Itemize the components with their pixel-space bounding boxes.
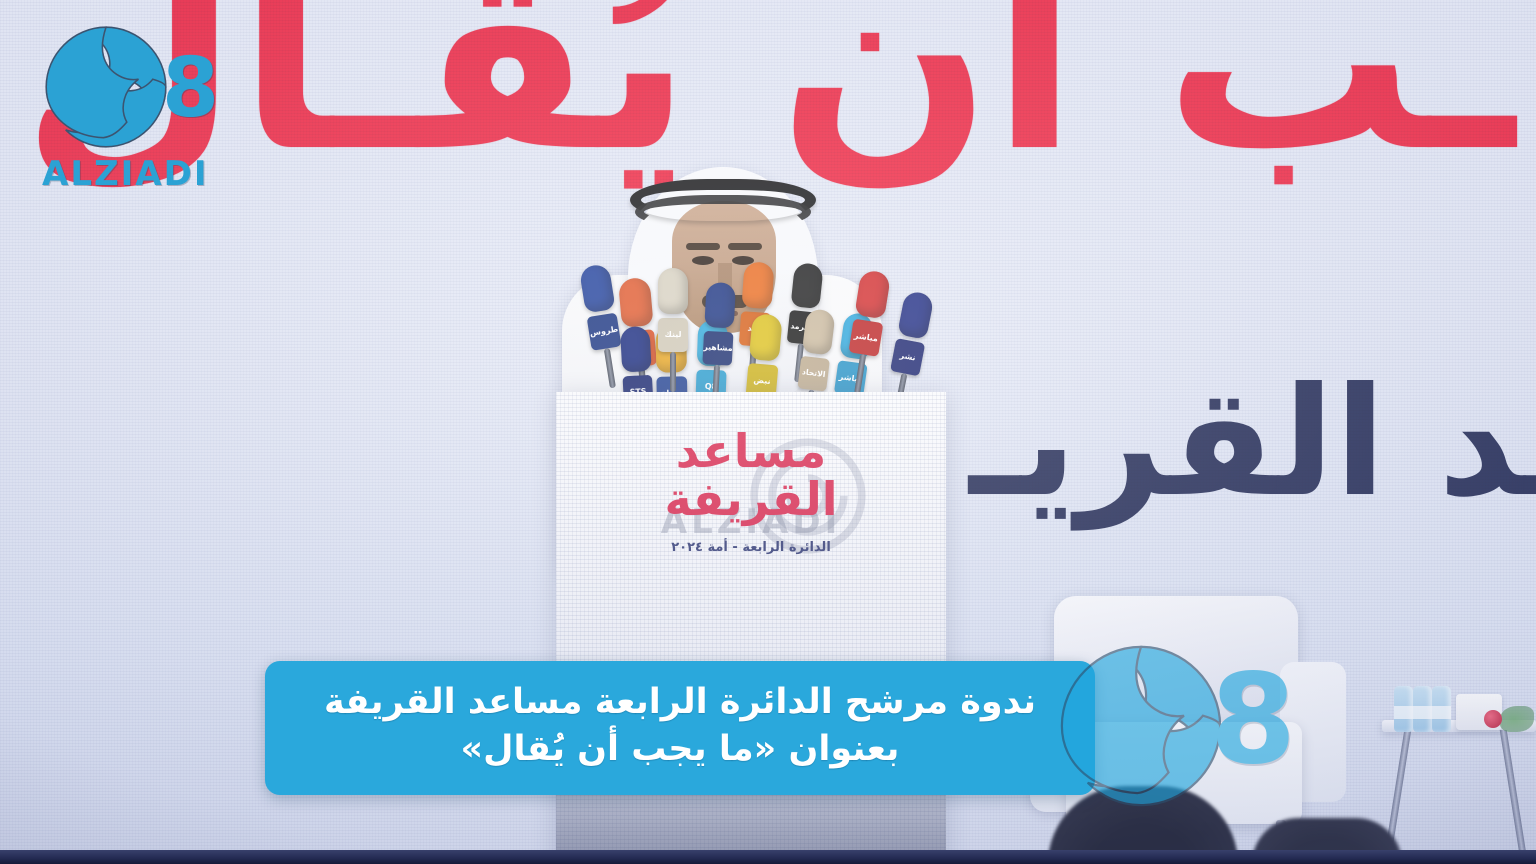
microphone-cluster: طروسa tvSTSسراةلينكQ8مشاهيرأرتدنبضيسرمدا… xyxy=(596,258,966,408)
podium-name-line-1: مساعد xyxy=(556,430,946,474)
microphone: لينك xyxy=(658,268,688,392)
side-table xyxy=(1382,652,1536,864)
water-bottle xyxy=(1432,686,1451,732)
podium-logo-block: مساعد القريفة الدائرة الرابعة - أمة ٢٠٢٤ xyxy=(556,430,946,555)
podium-name-line-2: القريفة xyxy=(556,476,946,522)
water-bottle xyxy=(1413,686,1432,732)
microphone-head xyxy=(704,282,736,329)
eyebrow-left xyxy=(686,243,720,250)
microphone-head xyxy=(618,277,654,328)
podium-detail-line: الدائرة الرابعة - أمة ٢٠٢٤ xyxy=(556,540,946,555)
flower-foliage xyxy=(1500,706,1534,732)
microphone-head xyxy=(897,290,934,340)
microphone-flag: نشر xyxy=(890,338,925,376)
microphone-stem xyxy=(604,348,616,388)
side-table-leg-b xyxy=(1500,730,1528,860)
news-photo-card: ـب أَن يُقـال ـد القريـ طروسa tvSTSسراةل… xyxy=(0,0,1536,864)
microphone-flag: طروس xyxy=(587,313,622,351)
microphone-head xyxy=(791,262,824,309)
microphone-head xyxy=(620,326,652,373)
microphone-head xyxy=(579,263,616,313)
speaker-agal-inner xyxy=(635,195,811,229)
eyebrow-right xyxy=(728,243,762,250)
bottle-label xyxy=(1432,706,1451,719)
microphone-flag: لينك xyxy=(658,318,688,352)
microphone-head xyxy=(802,308,836,355)
water-bottle xyxy=(1394,686,1413,732)
microphone-head xyxy=(854,269,891,319)
stage-edge-strip xyxy=(0,850,1536,864)
microphone-stem xyxy=(854,354,866,394)
microphone-stem xyxy=(670,352,676,392)
caption-bar: ندوة مرشح الدائرة الرابعة مساعد القريفة … xyxy=(265,661,1095,795)
microphone-head xyxy=(658,268,688,314)
microphone: مشاهير xyxy=(700,282,736,405)
brand-logo-number: 8 xyxy=(162,48,217,130)
bottle-label xyxy=(1413,706,1432,719)
bottle-label xyxy=(1394,706,1413,719)
microphone-head xyxy=(749,313,783,361)
microphone-flag: مباشر xyxy=(848,319,883,357)
q8-spiral-logo-icon xyxy=(36,22,176,152)
brand-wordmark: ALZIADI xyxy=(42,154,208,194)
brand-logo[interactable]: 8 ALZIADI xyxy=(36,22,236,202)
microphone-flag: الاتحاد xyxy=(797,356,830,392)
microphone-head xyxy=(741,261,774,309)
caption-line-2: بعنوان «ما يجب أن يُقال» xyxy=(461,726,900,773)
red-rose xyxy=(1484,710,1502,728)
microphone-flag: مشاهير xyxy=(702,331,733,366)
caption-line-1: ندوة مرشح الدائرة الرابعة مساعد القريفة xyxy=(324,679,1036,726)
